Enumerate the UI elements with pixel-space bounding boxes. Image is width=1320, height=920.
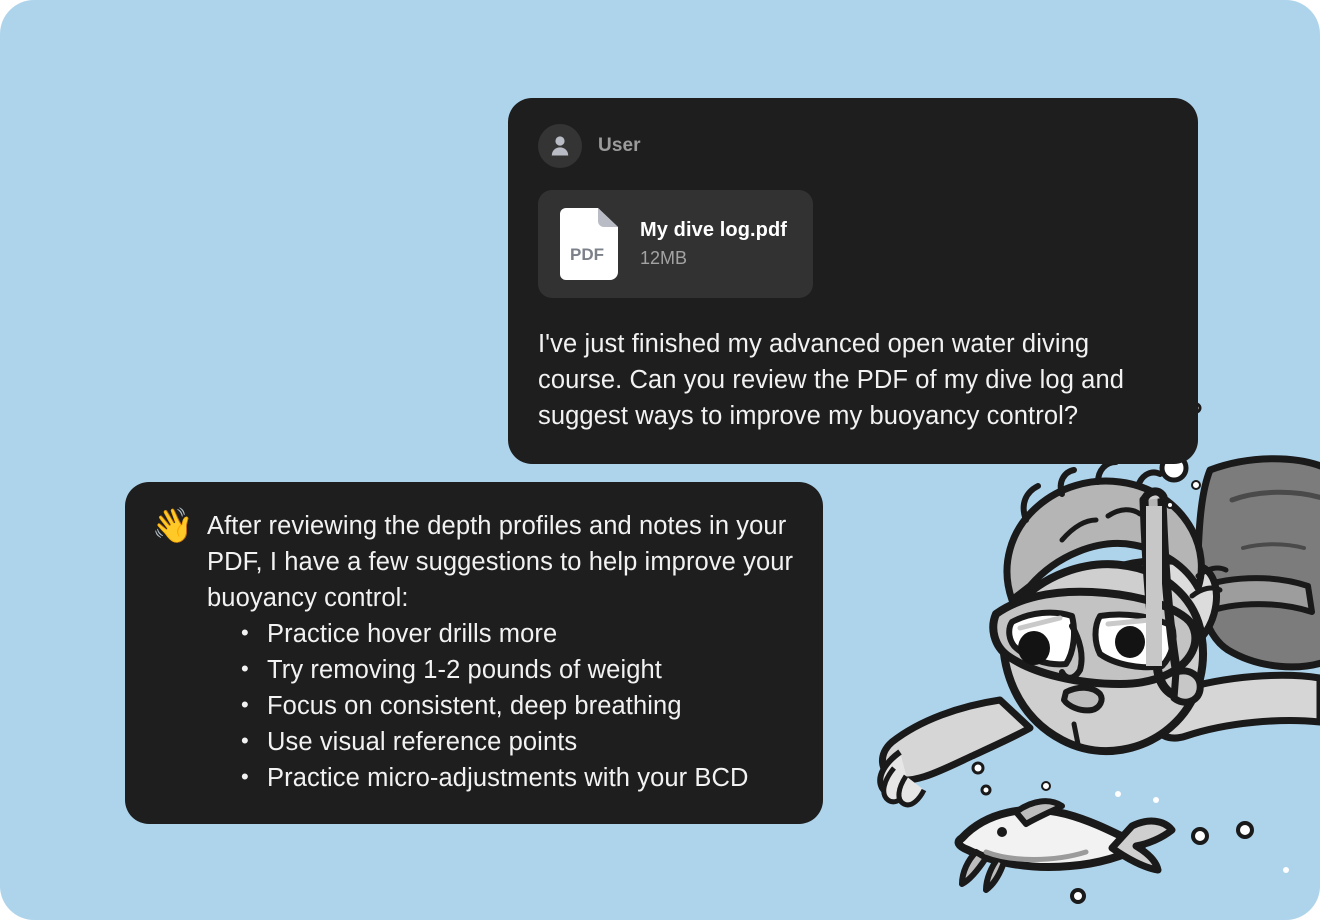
list-item: Focus on consistent, deep breathing: [241, 688, 795, 724]
attachment-file-size: 12MB: [640, 248, 787, 269]
assistant-text-column: After reviewing the depth profiles and n…: [207, 508, 795, 796]
attachment-meta: My dive log.pdf 12MB: [640, 219, 787, 269]
user-message-header: User: [538, 124, 1168, 168]
pdf-file-icon: PDF: [560, 208, 618, 280]
assistant-message-bubble: 👋 After reviewing the depth profiles and…: [125, 482, 823, 824]
user-message-text: I've just finished my advanced open wate…: [538, 326, 1168, 434]
list-item: Use visual reference points: [241, 724, 795, 760]
list-item: Practice hover drills more: [241, 616, 795, 652]
waving-hand-icon: 👋: [151, 508, 195, 544]
assistant-message-body: 👋 After reviewing the depth profiles and…: [151, 508, 795, 796]
attachment-card[interactable]: PDF My dive log.pdf 12MB: [538, 190, 813, 298]
svg-text:PDF: PDF: [570, 245, 604, 264]
fish-figure: [959, 801, 1172, 890]
assistant-intro-text: After reviewing the depth profiles and n…: [207, 508, 795, 616]
author-name: User: [598, 135, 641, 157]
list-item: Practice micro-adjustments with your BCD: [241, 760, 795, 796]
screenshot-canvas: User PDF My dive log.pdf 12MB I've just …: [0, 0, 1320, 920]
suggestions-list: Practice hover drills more Try removing …: [207, 616, 795, 796]
user-message-bubble: User PDF My dive log.pdf 12MB I've just …: [508, 98, 1198, 464]
attachment-file-name: My dive log.pdf: [640, 219, 787, 242]
list-item: Try removing 1-2 pounds of weight: [241, 652, 795, 688]
diver-figure: [880, 459, 1320, 805]
person-icon: [538, 124, 582, 168]
